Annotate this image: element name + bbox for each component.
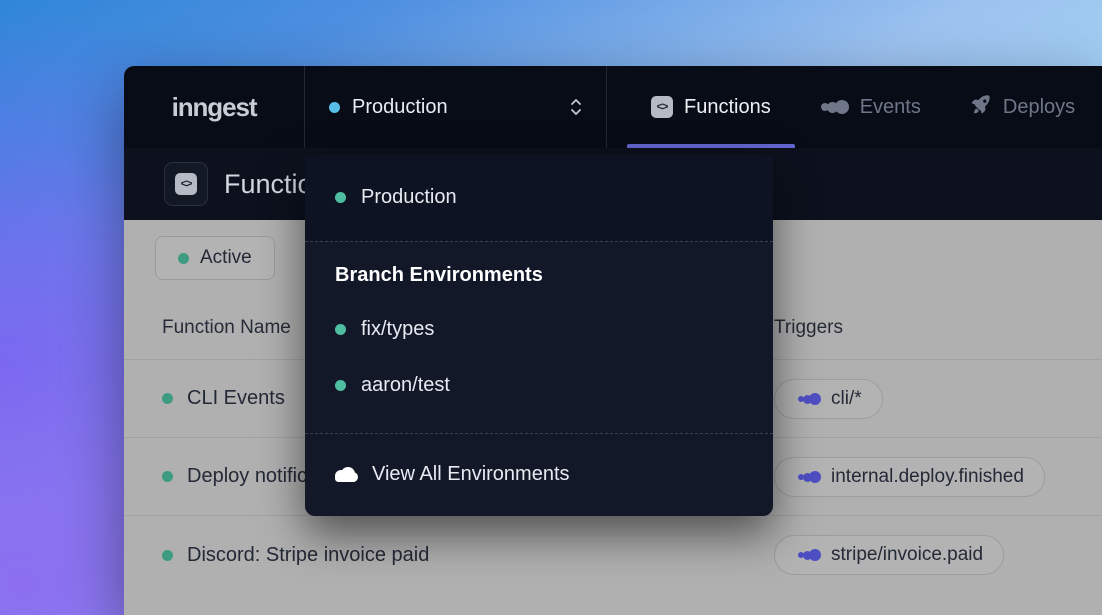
environment-status-dot (329, 102, 340, 113)
trigger-label: internal.deploy.finished (831, 466, 1024, 488)
nav-tabs: <> Functions Events Deploys (607, 66, 1099, 148)
code-brackets-icon: <> (651, 96, 673, 118)
events-icon (795, 392, 821, 406)
function-name: Discord: Stripe invoice paid (187, 544, 429, 567)
environment-name: Production (352, 96, 556, 119)
environment-dot (335, 192, 346, 203)
rocket-icon (969, 93, 992, 121)
dropdown-branch-section: Branch Environments fix/types aaron/test (305, 242, 773, 433)
branch-environments-heading: Branch Environments (305, 264, 773, 301)
function-name-cell: Discord: Stripe invoice paid (124, 544, 744, 567)
dropdown-footer-section: View All Environments (305, 434, 773, 516)
trigger-cell: stripe/invoice.paid (744, 535, 1004, 575)
environment-dot (335, 380, 346, 391)
table-row[interactable]: Discord: Stripe invoice paid stripe/invo… (124, 516, 1102, 594)
dropdown-item-production[interactable]: Production (305, 175, 773, 219)
tab-events-label: Events (860, 96, 921, 119)
dropdown-item-branch-aaron-test[interactable]: aaron/test (305, 357, 773, 413)
environment-dot (335, 324, 346, 335)
logo[interactable]: inngest (124, 66, 305, 148)
environment-selector[interactable]: Production (305, 66, 607, 148)
trigger-label: stripe/invoice.paid (831, 544, 983, 566)
tab-functions-label: Functions (684, 96, 771, 119)
dropdown-item-label: fix/types (361, 318, 434, 341)
tab-functions[interactable]: <> Functions (627, 66, 795, 148)
chevron-up-down-icon (568, 94, 584, 120)
trigger-pill[interactable]: cli/* (774, 379, 883, 419)
events-icon (819, 99, 849, 115)
dropdown-item-label: Production (361, 186, 457, 209)
top-navigation-bar: inngest Production <> Functions Events (124, 66, 1102, 148)
function-status-dot (162, 550, 173, 561)
page-icon-box: <> (164, 162, 208, 206)
trigger-cell: internal.deploy.finished (744, 457, 1045, 497)
status-filter-button[interactable]: Active (155, 236, 275, 280)
cloud-icon (335, 467, 357, 482)
dropdown-item-label: aaron/test (361, 374, 450, 397)
function-name: CLI Events (187, 387, 285, 410)
dropdown-item-branch-fix-types[interactable]: fix/types (305, 301, 773, 357)
dropdown-item-view-all-environments[interactable]: View All Environments (305, 452, 773, 496)
dropdown-selected-section: Production (305, 155, 773, 241)
function-status-dot (162, 393, 173, 404)
code-brackets-icon: <> (175, 173, 197, 195)
status-filter-label: Active (200, 247, 252, 269)
tab-deploys[interactable]: Deploys (945, 66, 1099, 148)
events-icon (795, 470, 821, 484)
trigger-pill[interactable]: internal.deploy.finished (774, 457, 1045, 497)
function-status-dot (162, 471, 173, 482)
trigger-label: cli/* (831, 388, 862, 410)
dropdown-item-label: View All Environments (372, 463, 570, 486)
events-icon (795, 548, 821, 562)
status-filter-dot (178, 253, 189, 264)
logo-text: inngest (172, 92, 257, 123)
tab-deploys-label: Deploys (1003, 96, 1075, 119)
trigger-pill[interactable]: stripe/invoice.paid (774, 535, 1004, 575)
environment-dropdown-menu: Production Branch Environments fix/types… (305, 155, 773, 516)
tab-events[interactable]: Events (795, 66, 945, 148)
